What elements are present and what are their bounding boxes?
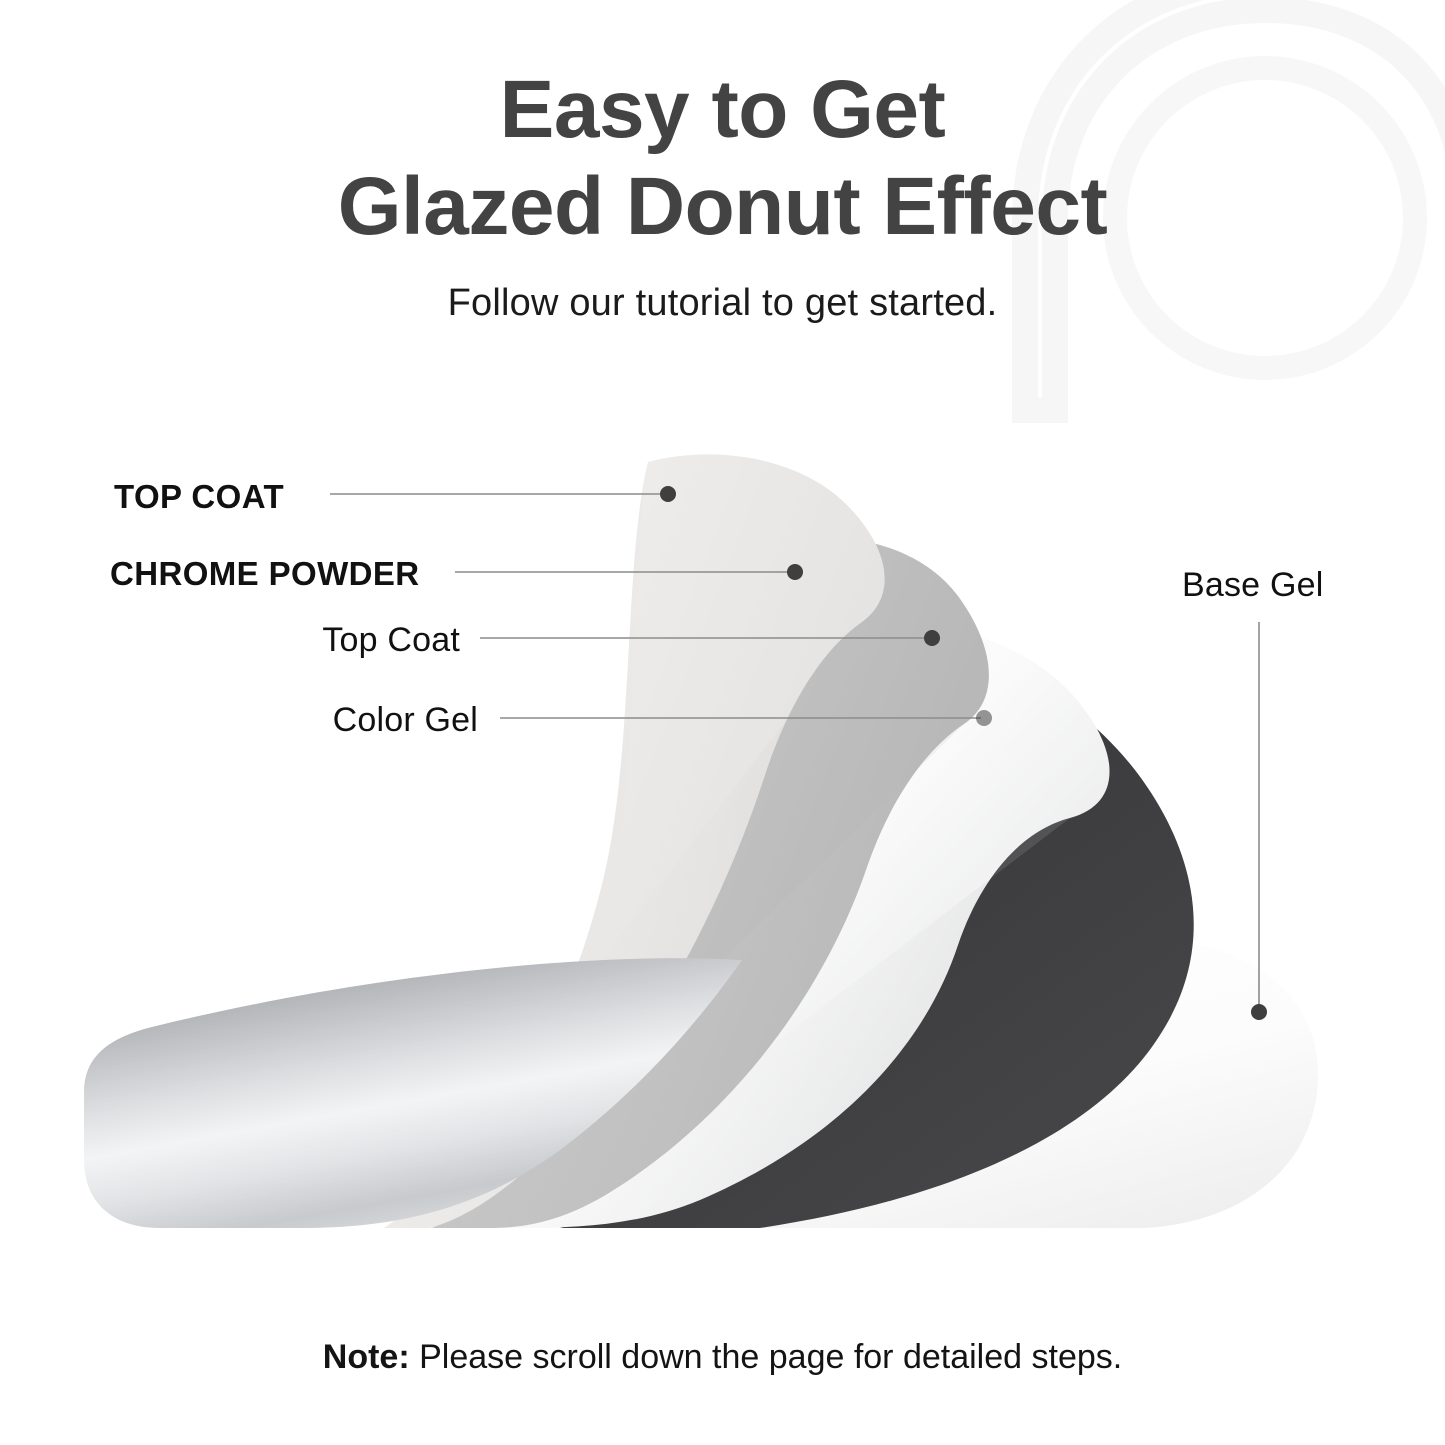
label-base-gel: Base Gel — [1182, 568, 1323, 602]
leader-dot-chrome-powder — [787, 564, 803, 580]
footer-note-prefix: Note: — [323, 1338, 410, 1376]
infographic-page: Easy to Get Glazed Donut Effect Follow o… — [0, 0, 1445, 1445]
label-top-coat-upper: TOP COAT — [114, 480, 284, 513]
leader-dot-top-coat-lower — [924, 630, 940, 646]
leader-dot-base-gel — [1251, 1004, 1267, 1020]
footer-note-text: Please scroll down the page for detailed… — [410, 1338, 1123, 1376]
leader-dot-color-gel — [976, 710, 992, 726]
label-chrome-powder: CHROME POWDER — [110, 557, 420, 590]
leader-dot-top-coat-upper — [660, 486, 676, 502]
label-color-gel: Color Gel — [333, 703, 478, 737]
nail-layers-illustration — [0, 0, 1445, 1445]
label-top-coat-lower: Top Coat — [322, 623, 460, 657]
footer-note: Note: Please scroll down the page for de… — [0, 1338, 1445, 1377]
